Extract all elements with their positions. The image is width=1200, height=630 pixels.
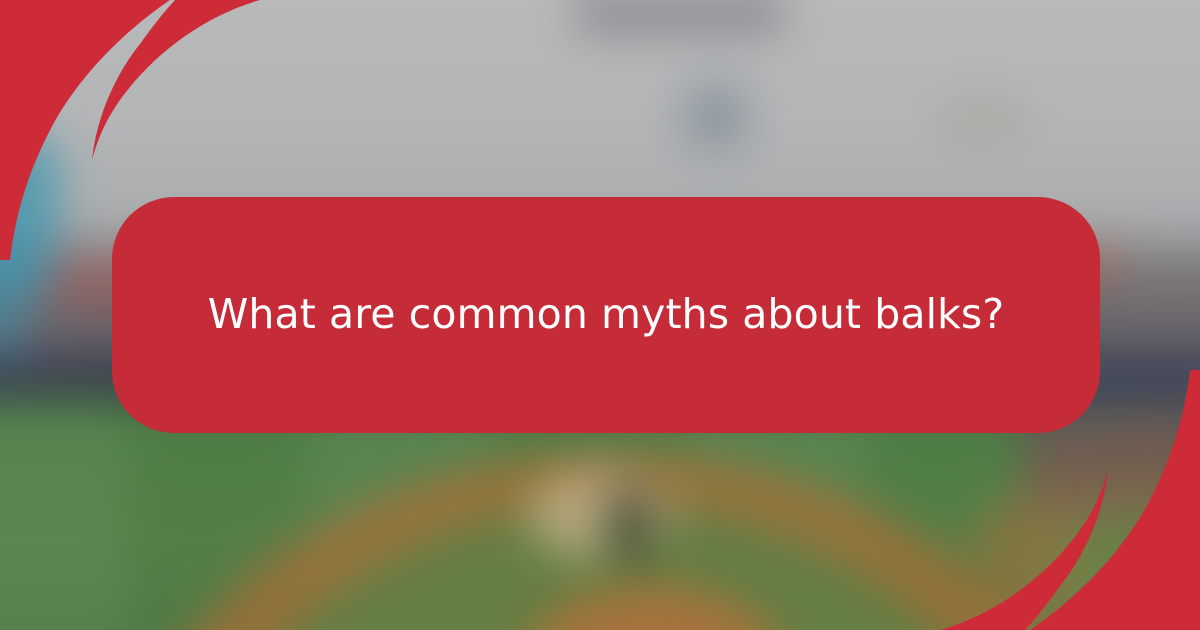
pitcher-figure xyxy=(607,488,652,563)
teal-banner-left-lower xyxy=(0,240,26,375)
share-card-canvas: What are common myths about balks? xyxy=(0,0,1200,630)
question-card: What are common myths about balks? xyxy=(112,197,1100,433)
right-field-grass xyxy=(1075,510,1200,630)
scoreboard-pole-blur xyxy=(686,86,745,146)
question-text: What are common myths about balks? xyxy=(208,289,1005,340)
mow-stripe xyxy=(0,398,125,630)
scoreboard-blur xyxy=(574,0,785,34)
outfield-sign-blur xyxy=(943,105,1022,135)
